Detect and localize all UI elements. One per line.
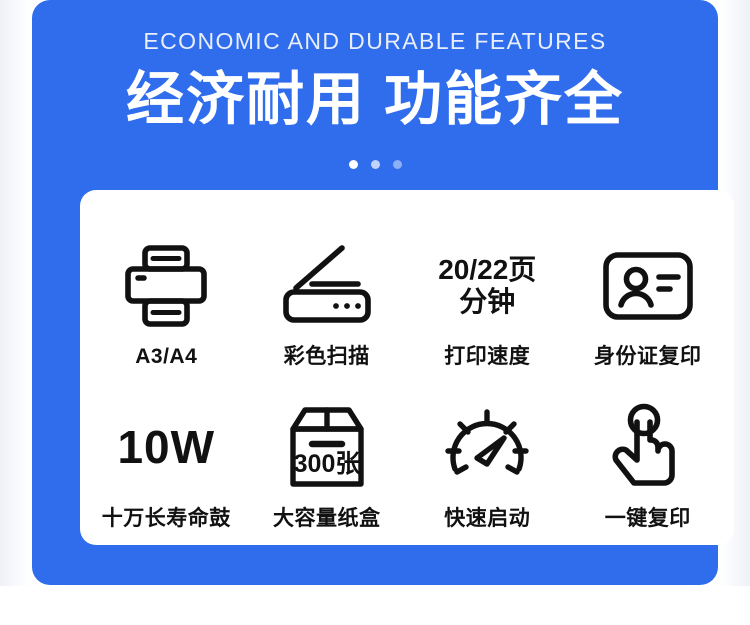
feature-cell-id-copy[interactable]: 身份证复印 [568,204,729,367]
feature-cell-paper-size[interactable]: A3/A4 [86,204,247,367]
promo-header: ECONOMIC AND DURABLE FEATURES 经济耐用 功能齐全 [32,0,718,131]
page-left-edge [0,0,32,586]
drum-life-value: 10W [117,422,215,474]
feature-label: 打印速度 [444,346,530,367]
feature-cell-color-scan[interactable]: 彩色扫描 [247,204,408,367]
feature-label: 十万长寿命鼓 [102,508,231,529]
feature-label: 身份证复印 [594,346,702,367]
promo-panel: ECONOMIC AND DURABLE FEATURES 经济耐用 功能齐全 [32,0,718,585]
print-speed-unit: 分钟 [438,286,536,317]
feature-label: 大容量纸盒 [273,508,381,529]
feature-cell-drum-life[interactable]: 10W 十万长寿命鼓 [86,367,247,530]
print-speed-value: 20/22页 [438,254,536,285]
carousel-dots[interactable] [32,160,718,169]
carousel-dot-1[interactable] [349,160,358,169]
feature-cell-quick-start[interactable]: 快速启动 [407,367,568,530]
carousel-dot-3[interactable] [393,160,402,169]
feature-row-1: A3/A4 彩色扫描 [86,204,728,367]
feature-card: A3/A4 彩色扫描 [80,190,734,545]
eyebrow-text: ECONOMIC AND DURABLE FEATURES [32,30,718,53]
page-title: 经济耐用 功能齐全 [32,70,718,131]
feature-label: 一键复印 [605,508,691,529]
id-card-icon [600,238,696,334]
print-speed-stat: 20/22页 分钟 [438,238,536,334]
paper-box-capacity-text: 300张 [293,450,361,478]
carousel-dot-2[interactable] [371,160,380,169]
feature-label: A3/A4 [135,346,197,367]
printer-icon [120,238,212,334]
feature-label: 快速启动 [444,508,530,529]
speedometer-icon [442,400,532,496]
feature-cell-paper-tray[interactable]: 300张 大容量纸盒 [247,367,408,530]
scanner-icon [278,238,376,334]
touch-hand-icon [604,400,692,496]
feature-label: 彩色扫描 [284,346,370,367]
feature-cell-one-touch-copy[interactable]: 一键复印 [568,367,729,530]
feature-cell-print-speed[interactable]: 20/22页 分钟 打印速度 [407,204,568,367]
feature-row-2: 10W 十万长寿命鼓 300张 大容量纸盒 [86,367,728,530]
paper-box-icon: 300张 [279,400,375,496]
drum-life-stat: 10W [117,400,215,496]
